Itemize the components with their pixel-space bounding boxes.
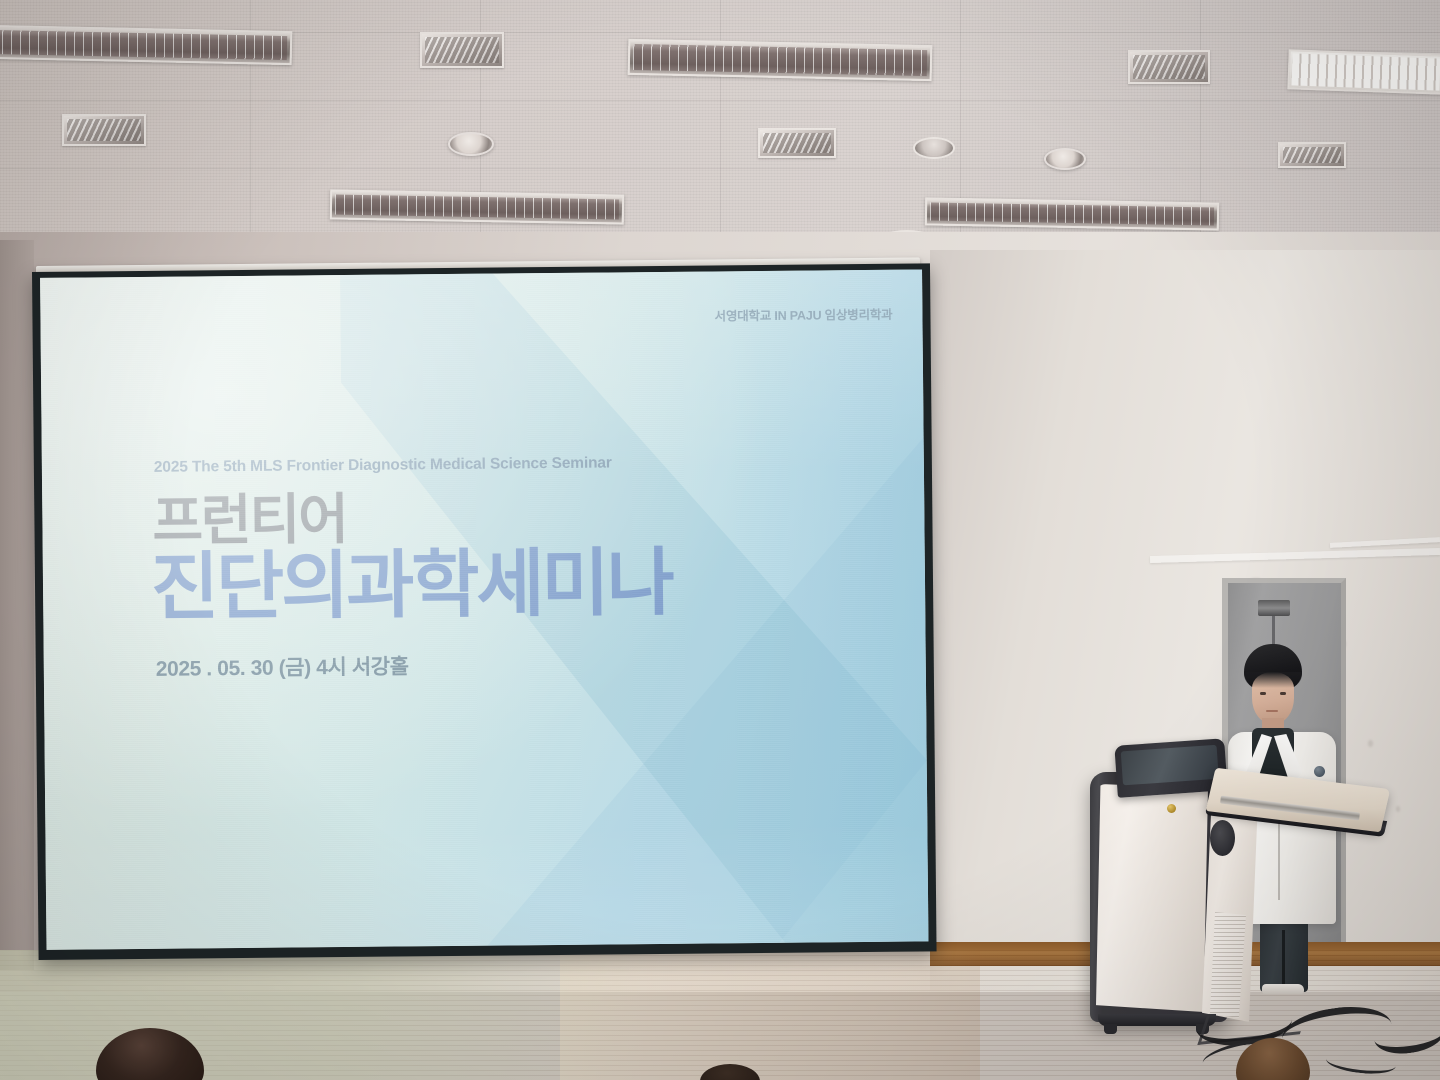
rectangular-vent-icon — [420, 32, 504, 68]
slide-department-label: 서영대학교 IN PAJU 임상병리학과 — [715, 304, 893, 325]
linear-air-diffuser-icon — [330, 189, 624, 224]
left-wall-shadow — [0, 240, 34, 970]
linear-air-diffuser-icon — [628, 39, 933, 81]
ceiling-speaker-icon — [913, 137, 955, 159]
rectangular-vent-icon — [758, 128, 836, 158]
presenter-mouth — [1266, 710, 1278, 712]
projection-screen: 서영대학교 IN PAJU 임상병리학과 2025 The 5th MLS Fr… — [32, 263, 937, 960]
linear-air-diffuser-icon — [925, 197, 1219, 230]
presenter-eye — [1260, 692, 1266, 695]
slide-text-block: 2025 The 5th MLS Frontier Diagnostic Med… — [150, 452, 892, 683]
linear-air-diffuser-icon — [0, 25, 292, 65]
slide-title-line-2: 진단의과학세미나 — [151, 544, 892, 625]
recessed-downlight-icon — [1044, 148, 1086, 170]
slide-surface: 서영대학교 IN PAJU 임상병리학과 2025 The 5th MLS Fr… — [40, 269, 928, 949]
fluorescent-light-panel-icon — [1287, 49, 1440, 94]
floor-reflection — [0, 950, 640, 1080]
floor-reflection — [560, 950, 980, 1080]
presenter-hair-fringe — [1244, 672, 1302, 688]
podium-monitor-screen[interactable] — [1121, 745, 1219, 786]
podium-speaker-grille-icon — [1210, 820, 1235, 856]
podium-logo-badge-icon — [1167, 804, 1176, 813]
podium-caster — [1104, 1024, 1117, 1034]
presenter-eye — [1280, 692, 1286, 695]
recessed-downlight-icon — [448, 132, 494, 156]
rectangular-vent-icon — [1128, 50, 1210, 84]
rectangular-vent-icon — [1278, 142, 1346, 168]
podium — [1082, 742, 1402, 1032]
lecture-hall-scene: 서영대학교 IN PAJU 임상병리학과 2025 The 5th MLS Fr… — [0, 0, 1440, 1080]
podium-front-panel — [1096, 784, 1208, 1012]
slide-title-line-1: 프런티어 — [152, 488, 890, 549]
rectangular-vent-icon — [62, 114, 146, 146]
door-closer-icon — [1258, 600, 1290, 616]
